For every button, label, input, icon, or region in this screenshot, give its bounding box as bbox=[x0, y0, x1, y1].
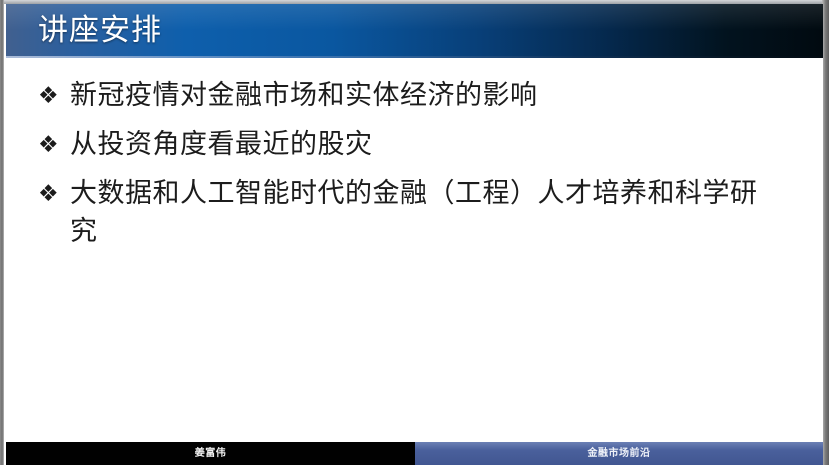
list-item: ❖ 从投资角度看最近的股灾 bbox=[38, 125, 798, 163]
slide-frame-left bbox=[0, 0, 4, 465]
list-item-label: 大数据和人工智能时代的金融（工程）人才培养和科学研究 bbox=[70, 174, 760, 250]
list-item: ❖ 大数据和人工智能时代的金融（工程）人才培养和科学研究 bbox=[38, 174, 798, 250]
footer-course-block: 金融市场前沿 bbox=[415, 442, 823, 465]
slide-title-bar: 讲座安排 bbox=[6, 4, 823, 58]
diamond-bullet-icon: ❖ bbox=[38, 125, 70, 163]
list-item: ❖ 新冠疫情对金融市场和实体经济的影响 bbox=[38, 76, 798, 114]
slide-title: 讲座安排 bbox=[38, 11, 162, 51]
bullet-list: ❖ 新冠疫情对金融市场和实体经济的影响 ❖ 从投资角度看最近的股灾 ❖ 大数据和… bbox=[38, 76, 798, 261]
slide-body: ❖ 新冠疫情对金融市场和实体经济的影响 ❖ 从投资角度看最近的股灾 ❖ 大数据和… bbox=[6, 58, 823, 442]
list-item-label: 从投资角度看最近的股灾 bbox=[70, 125, 798, 163]
slide-frame-right bbox=[822, 0, 829, 465]
footer-author-label: 姜富伟 bbox=[195, 448, 227, 460]
footer-course-label: 金融市场前沿 bbox=[588, 448, 651, 460]
presentation-slide: 讲座安排 ❖ 新冠疫情对金融市场和实体经济的影响 ❖ 从投资角度看最近的股灾 ❖… bbox=[0, 0, 829, 465]
slide-footer: 姜富伟 金融市场前沿 bbox=[6, 442, 823, 465]
footer-author-block: 姜富伟 bbox=[6, 442, 415, 465]
diamond-bullet-icon: ❖ bbox=[38, 174, 70, 212]
diamond-bullet-icon: ❖ bbox=[38, 76, 70, 114]
list-item-label: 新冠疫情对金融市场和实体经济的影响 bbox=[70, 76, 798, 114]
